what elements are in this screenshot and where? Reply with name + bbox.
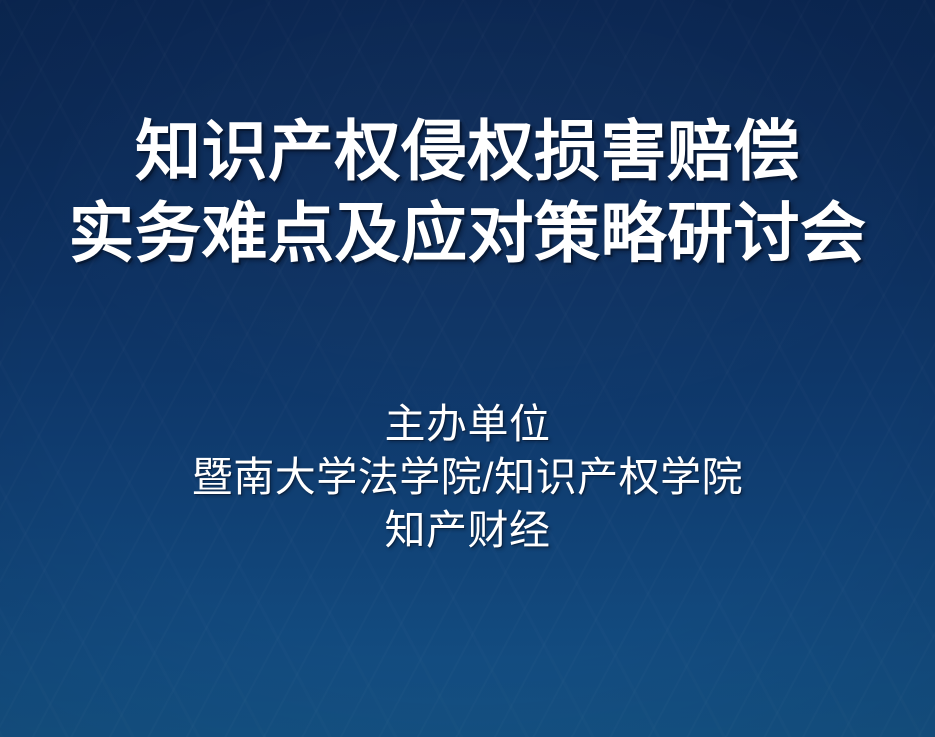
title-line-1: 知识产权侵权损害赔偿 — [0, 110, 935, 192]
organizer-entry-media: 知产财经 — [0, 504, 935, 557]
organizer-block: 主办单位 暨南大学法学院/知识产权学院 知产财经 — [0, 398, 935, 557]
presentation-title-slide: 知识产权侵权损害赔偿 实务难点及应对策略研讨会 主办单位 暨南大学法学院/知识产… — [0, 0, 935, 737]
slide-title: 知识产权侵权损害赔偿 实务难点及应对策略研讨会 — [0, 110, 935, 274]
organizer-heading: 主办单位 — [0, 398, 935, 451]
organizer-entry-university: 暨南大学法学院/知识产权学院 — [0, 451, 935, 504]
title-line-2: 实务难点及应对策略研讨会 — [0, 192, 935, 274]
